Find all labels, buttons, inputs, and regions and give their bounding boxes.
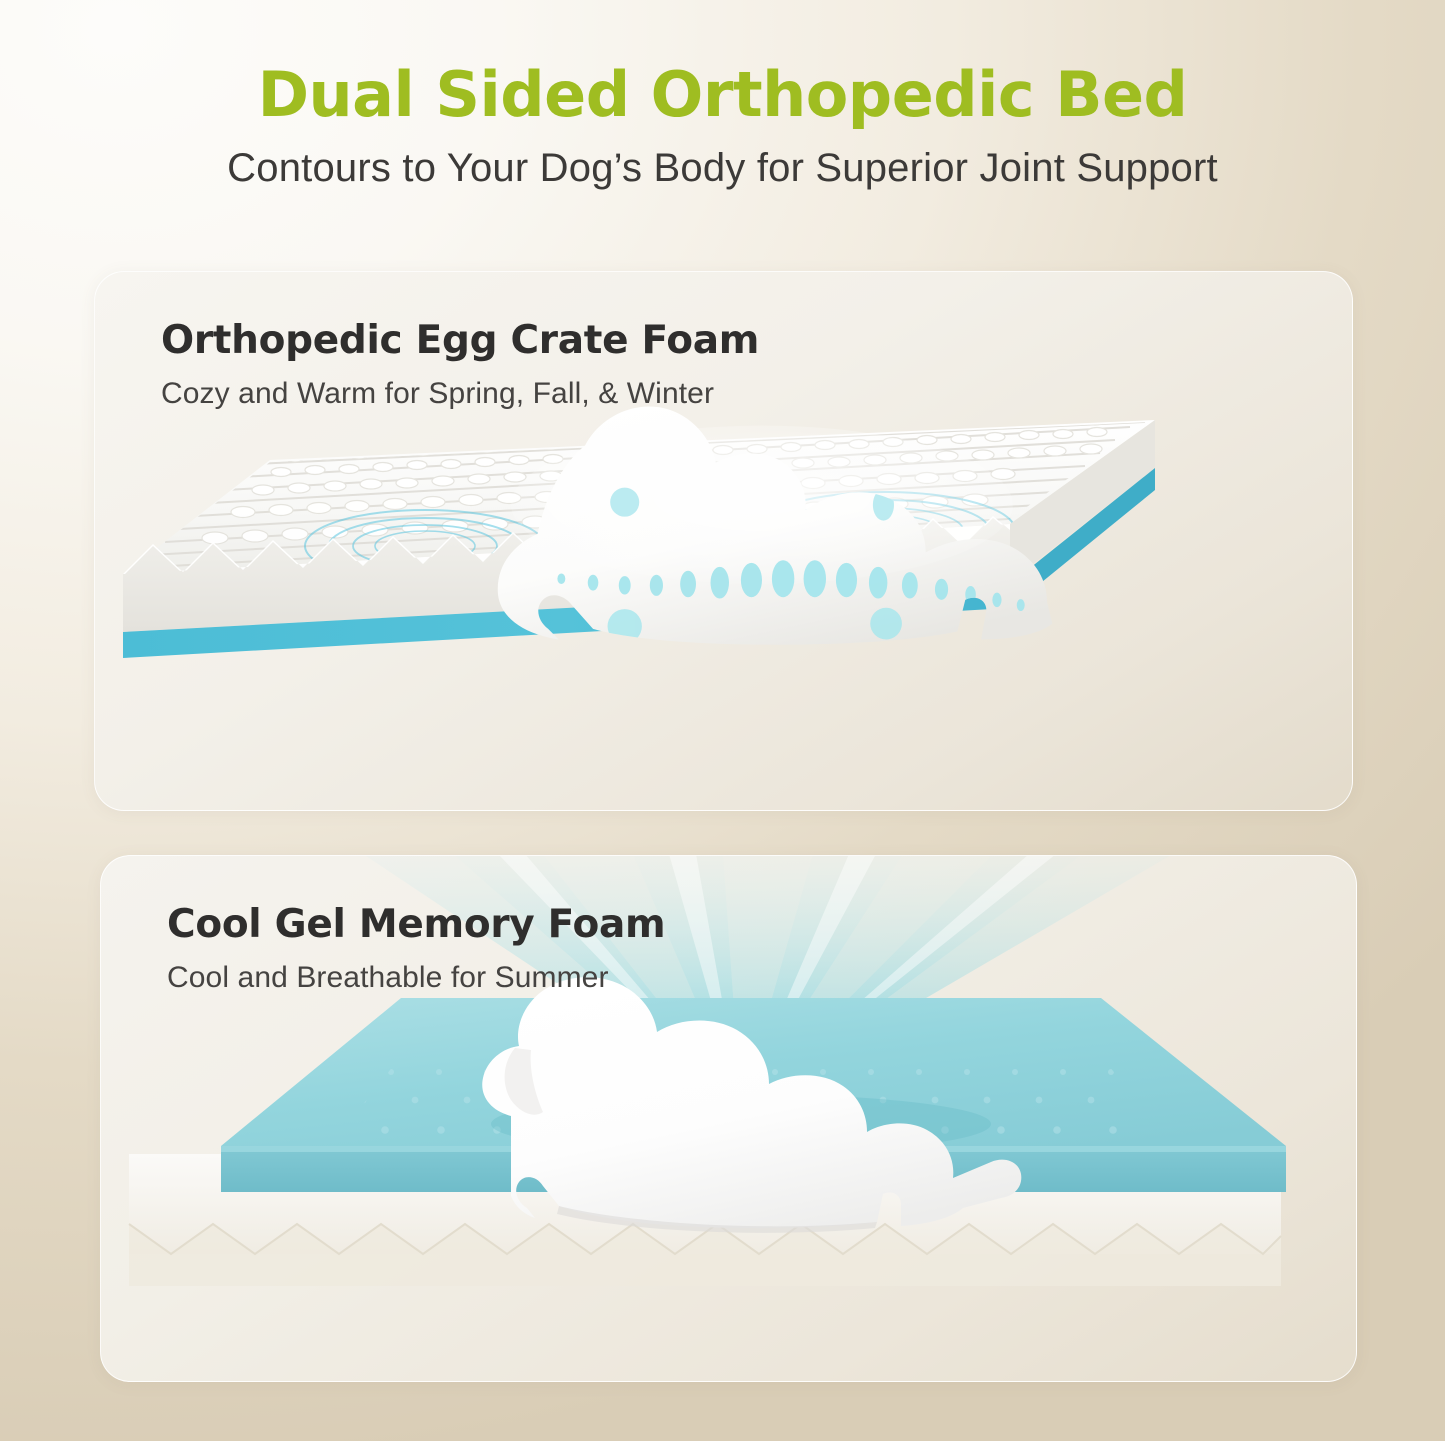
dog-silhouette xyxy=(482,977,1021,1233)
page-subtitle: Contours to Your Dog’s Body for Superior… xyxy=(0,129,1445,191)
card-subtitle-egg-crate: Cozy and Warm for Spring, Fall, & Winter xyxy=(161,363,759,412)
card-subtitle-cool-gel: Cool and Breathable for Summer xyxy=(167,947,665,996)
feature-card-egg-crate: Orthopedic Egg Crate Foam Cozy and Warm … xyxy=(94,271,1353,811)
header: Dual Sided Orthopedic Bed Contours to Yo… xyxy=(0,0,1445,191)
card-title-egg-crate: Orthopedic Egg Crate Foam xyxy=(161,320,759,363)
feature-card-cool-gel: Cool Gel Memory Foam Cool and Breathable… xyxy=(100,855,1357,1382)
spine-dots xyxy=(557,488,1024,644)
pressure-ripple xyxy=(305,492,1015,582)
gel-perforations xyxy=(325,1019,1229,1134)
card-heading-group: Cool Gel Memory Foam Cool and Breathable… xyxy=(167,904,665,995)
page-title: Dual Sided Orthopedic Bed xyxy=(0,0,1445,129)
dog-silhouette xyxy=(498,406,1053,644)
infographic-page: Dual Sided Orthopedic Bed Contours to Yo… xyxy=(0,0,1445,1441)
card-heading-group: Orthopedic Egg Crate Foam Cozy and Warm … xyxy=(161,320,759,411)
card-title-cool-gel: Cool Gel Memory Foam xyxy=(167,904,665,947)
